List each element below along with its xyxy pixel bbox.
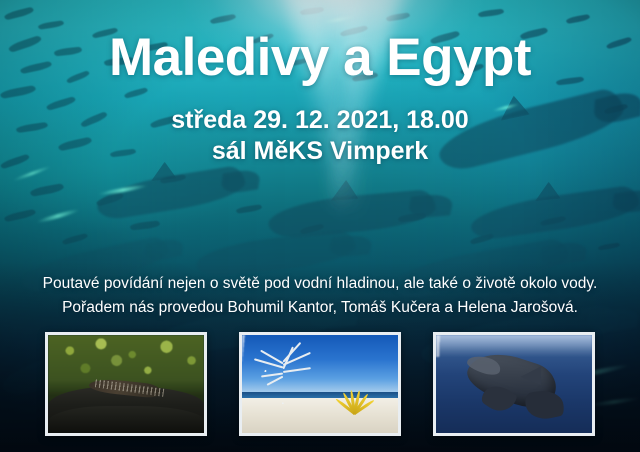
- description-line-1: Poutavé povídání nejen o světě pod vodní…: [0, 272, 640, 295]
- rock-foreground: [48, 406, 204, 433]
- bare-white-tree: [254, 357, 310, 404]
- event-venue: sál MěKS Vimperk: [0, 135, 640, 168]
- page-title: Maledivy a Egypt: [0, 30, 640, 86]
- whale-shark-photo: [433, 332, 595, 436]
- description-line-2: Pořadem nás provedou Bohumil Kantor, Tom…: [0, 296, 640, 319]
- yellow-palm-sprout: [339, 390, 367, 414]
- photo-strip: [0, 332, 640, 438]
- event-poster: Maledivy a Egypt středa 29. 12. 2021, 18…: [0, 0, 640, 452]
- iguana-on-rock-photo: [45, 332, 207, 436]
- water-surface-shimmer: [436, 335, 592, 357]
- event-date-time: středa 29. 12. 2021, 18.00: [0, 104, 640, 137]
- white-beach-photo: [239, 332, 401, 436]
